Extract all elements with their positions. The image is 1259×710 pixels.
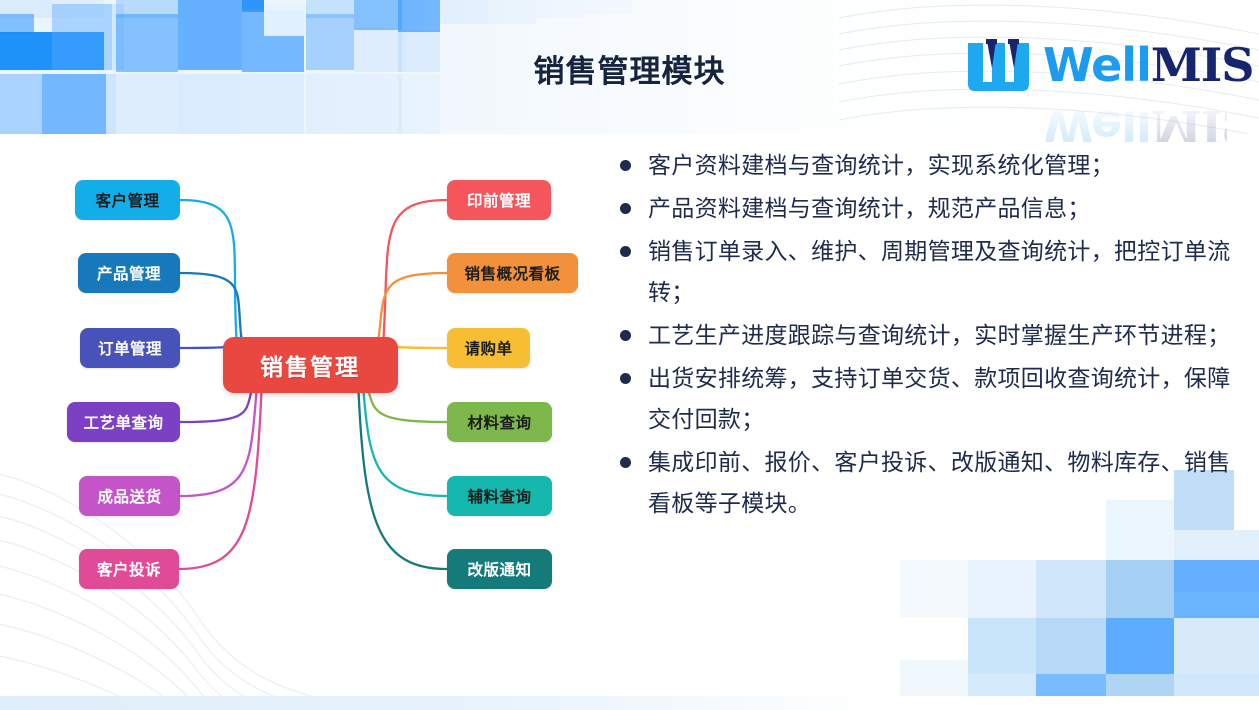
mosaic-tile [354,0,402,30]
mindmap-node-right-6[interactable]: 改版通知 [447,549,552,589]
mosaic-tile [0,14,34,34]
mosaic-tile [488,0,536,24]
mindmap-connector-left-4 [180,391,252,422]
mindmap-connector-right-2 [379,273,448,339]
bullet-dot-icon [620,246,631,257]
mindmap-node-left-2[interactable]: 产品管理 [78,253,180,293]
mosaic-tile [968,560,1036,618]
w-crown-icon [965,38,1041,96]
mosaic-tile [536,0,584,18]
mosaic-tile [1106,674,1174,696]
mindmap-connector-right-5 [364,391,448,496]
feature-bullet-item: 集成印前、报价、客户投诉、改版通知、物料库存、销售看板等子模块。 [612,443,1242,525]
bullet-dot-icon [620,457,631,468]
mindmap-node-right-2[interactable]: 销售概况看板 [447,253,578,293]
bullet-dot-icon [620,330,631,341]
logo-wordmark: WellMIS [1043,36,1254,94]
mosaic-tile [900,560,968,618]
mindmap-connector-right-4 [369,391,448,422]
mindmap-connector-left-1 [180,200,237,339]
mindmap-connector-left-2 [180,273,242,339]
feature-bullet-text: 产品资料建档与查询统计，规范产品信息； [648,189,1242,230]
feature-bullet-item: 出货安排统筹，支持订单交货、款项回收查询统计，保障交付回款； [612,359,1242,441]
logo-reflection: WellMIS [965,96,1227,142]
mosaic-tile [398,0,440,32]
feature-bullet-text: 集成印前、报价、客户投诉、改版通知、物料库存、销售看板等子模块。 [648,443,1242,525]
mindmap-node-left-1[interactable]: 客户管理 [75,180,180,220]
mosaic-tile [968,618,1036,674]
feature-bullet-text: 客户资料建档与查询统计，实现系统化管理； [648,146,1242,187]
mosaic-tile [1106,618,1174,674]
mindmap-node-right-3[interactable]: 请购单 [447,328,530,368]
mindmap-connector-left-6 [179,391,262,569]
feature-bullet-text: 工艺生产进度跟踪与查询统计，实时掌握生产环节进程； [648,316,1242,357]
feature-bullet-text: 出货安排统筹，支持订单交货、款项回收查询统计，保障交付回款； [648,359,1242,441]
mosaic-tile [1036,674,1106,696]
mosaic-tile [1106,560,1174,618]
feature-bullet-item: 客户资料建档与查询统计，实现系统化管理； [612,146,1242,187]
mosaic-tile [900,660,968,696]
mindmap-node-left-3[interactable]: 订单管理 [80,328,180,368]
mindmap-center-node[interactable]: 销售管理 [223,337,398,393]
mindmap-connector-left-5 [180,391,257,496]
feature-bullet-list: 客户资料建档与查询统计，实现系统化管理；产品资料建档与查询统计，规范产品信息；销… [612,146,1242,527]
logo-text-well: Well [1043,38,1151,92]
mindmap-node-right-4[interactable]: 材料查询 [447,402,552,442]
bullet-dot-icon [620,203,631,214]
mindmap-node-right-1[interactable]: 印前管理 [447,180,551,220]
mindmap-node-left-4[interactable]: 工艺单查询 [67,402,180,442]
mosaic-tile [264,4,308,36]
mosaic-tile [1036,560,1106,618]
mindmap: 客户管理产品管理订单管理工艺单查询成品送货客户投诉印前管理销售概况看板请购单材料… [0,134,600,694]
mosaic-tile [1174,618,1259,674]
feature-bullet-text: 销售订单录入、维护、周期管理及查询统计，把控订单流转； [648,232,1242,314]
feature-bullet-item: 工艺生产进度跟踪与查询统计，实时掌握生产环节进程； [612,316,1242,357]
feature-bullet-item: 产品资料建档与查询统计，规范产品信息； [612,189,1242,230]
bottom-strip-decoration [0,696,1259,710]
mindmap-node-right-5[interactable]: 辅料查询 [447,476,552,516]
slide: 销售管理模块 WellMIS WellMIS 客户管理产品管理订 [0,0,1259,710]
mindmap-node-left-5[interactable]: 成品送货 [79,476,180,516]
mindmap-node-left-6[interactable]: 客户投诉 [79,549,179,589]
logo-text-mis: MIS [1151,38,1254,92]
bullet-dot-icon [620,373,631,384]
mosaic-tile [968,674,1036,696]
mosaic-tile [584,0,632,14]
mosaic-tile [440,0,488,24]
mosaic-tile [1036,618,1106,674]
feature-bullet-item: 销售订单录入、维护、周期管理及查询统计，把控订单流转； [612,232,1242,314]
bullet-dot-icon [620,160,631,171]
mosaic-tile [1174,560,1259,618]
brand-logo: WellMIS [965,38,1227,98]
mosaic-tile [1174,674,1259,696]
mindmap-connector-right-6 [359,391,448,569]
mindmap-connector-right-1 [384,200,448,339]
